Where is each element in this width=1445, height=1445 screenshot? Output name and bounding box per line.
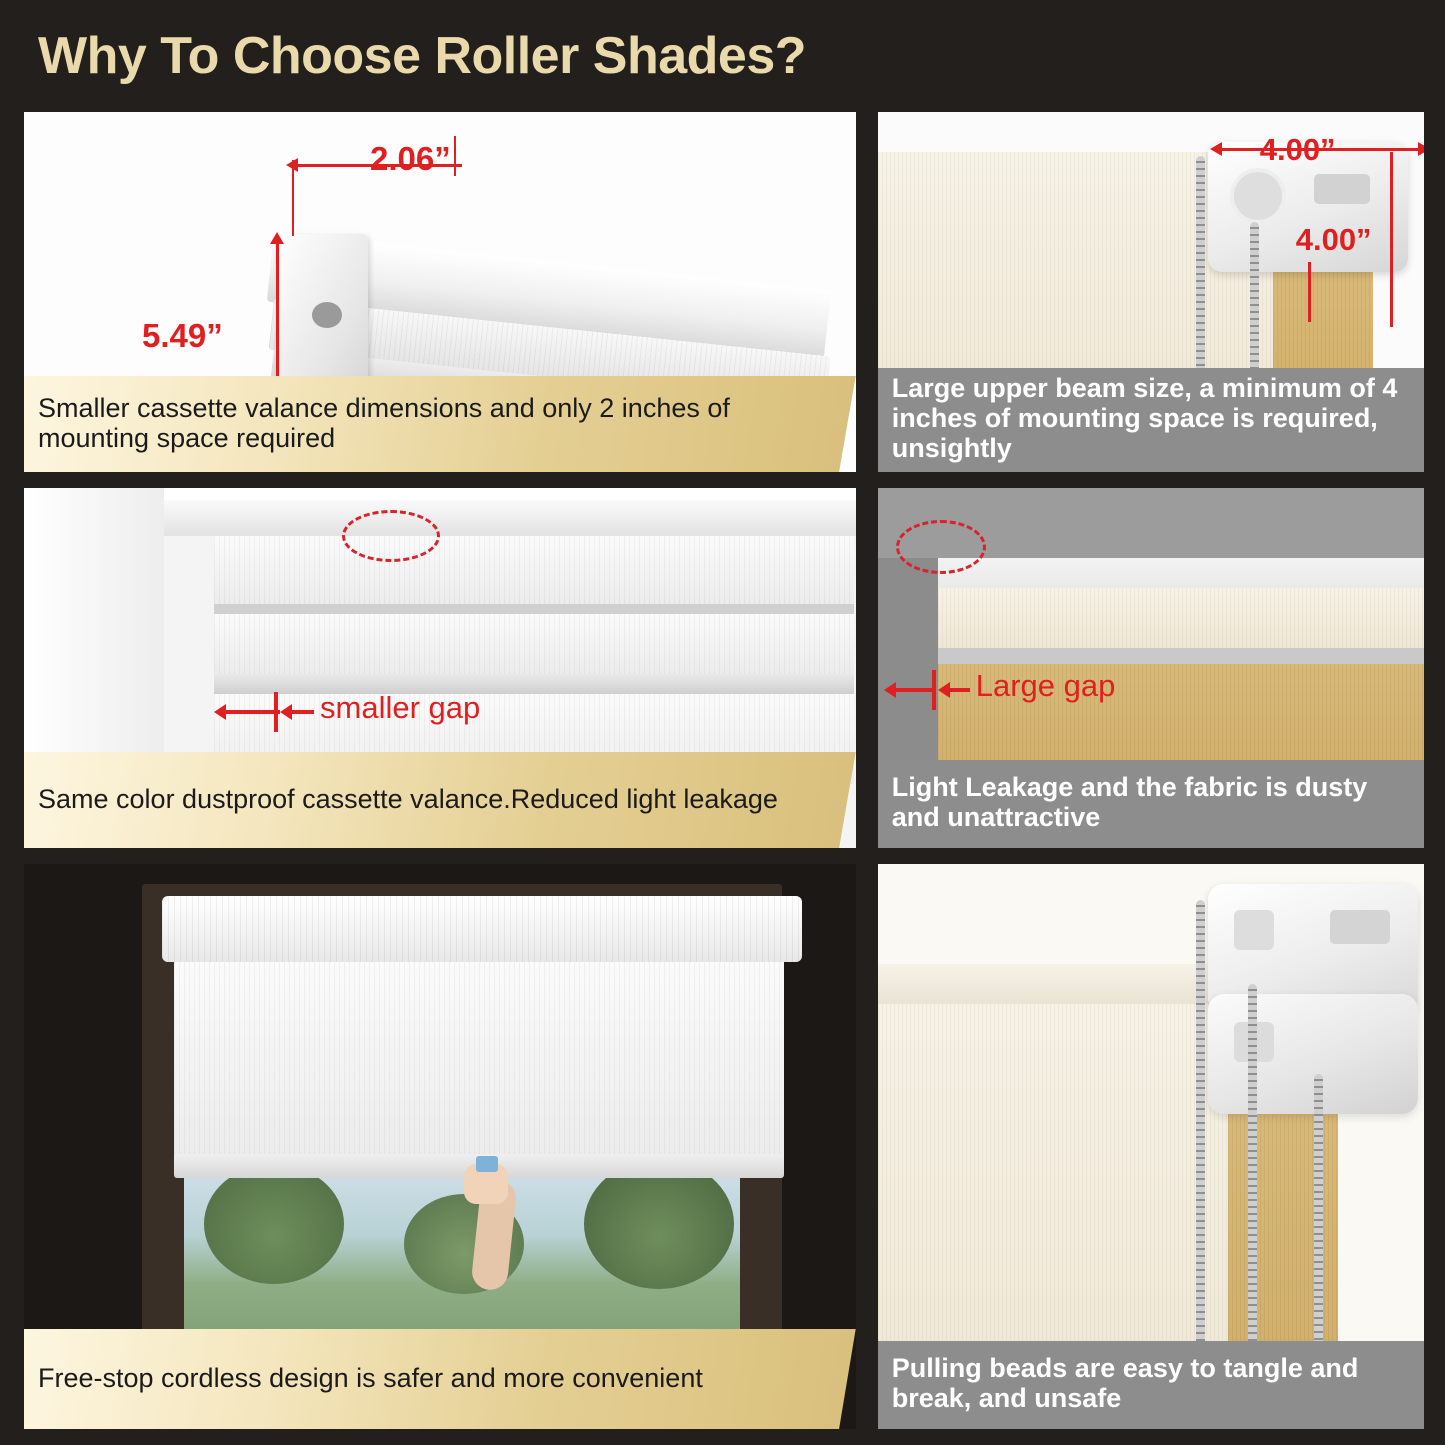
annotation-beam-depth: 4.00” <box>1296 222 1372 258</box>
panel-4: Large gap Light Leakage and the fabric i… <box>878 488 1424 848</box>
annotation-height: 5.49” <box>142 317 223 355</box>
annotation-large-gap: Large gap <box>976 668 1116 704</box>
gap-highlight-circle <box>342 510 440 562</box>
annotation-width: 2.06” <box>370 140 451 178</box>
page-title: Why To Choose Roller Shades? <box>38 26 806 86</box>
panel-6: Pulling beads are easy to tangle and bre… <box>878 864 1424 1429</box>
panel-2: 4.00” 4.00” Large upper beam size, a min… <box>878 112 1424 472</box>
annotation-smaller-gap: smaller gap <box>320 690 480 726</box>
panel-2-caption: Large upper beam size, a minimum of 4 in… <box>878 368 1424 472</box>
panel-6-caption: Pulling beads are easy to tangle and bre… <box>878 1341 1424 1429</box>
panel-5: Free-stop cordless design is safer and m… <box>24 864 856 1429</box>
panel-1-caption: Smaller cassette valance dimensions and … <box>24 376 856 472</box>
panel-5-caption: Free-stop cordless design is safer and m… <box>24 1329 856 1429</box>
panel-row-1: 2.06” 5.49” Smaller cassette valance dim… <box>24 112 1424 472</box>
panel-1: 2.06” 5.49” Smaller cassette valance dim… <box>24 112 856 472</box>
panel-3-caption: Same color dustproof cassette valance.Re… <box>24 752 856 848</box>
panel-3: smaller gap Same color dustproof cassett… <box>24 488 856 848</box>
gap-highlight-circle <box>896 520 986 574</box>
infographic-page: Why To Choose Roller Shades? <box>0 0 1445 1445</box>
panel-4-caption: Light Leakage and the fabric is dusty an… <box>878 760 1424 848</box>
panel-row-2: smaller gap Same color dustproof cassett… <box>24 488 1424 848</box>
panel-grid: 2.06” 5.49” Smaller cassette valance dim… <box>24 112 1424 1445</box>
panel-row-3: Free-stop cordless design is safer and m… <box>24 864 1424 1429</box>
annotation-beam-width: 4.00” <box>1260 132 1336 168</box>
